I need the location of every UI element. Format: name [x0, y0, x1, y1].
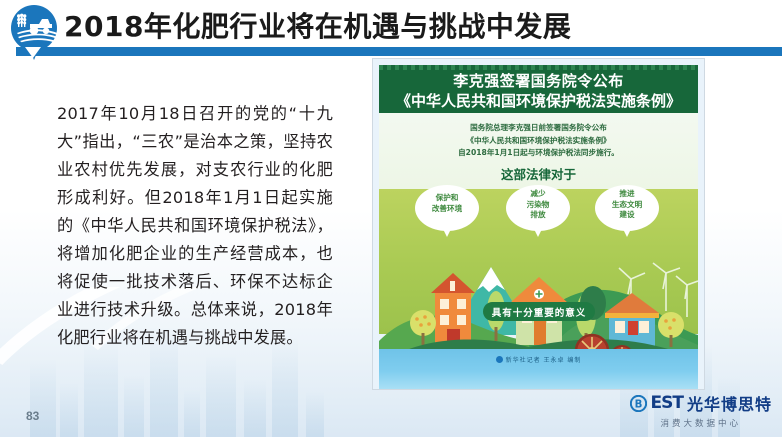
credit-text: 新华社记者 王永卓 编制: [506, 357, 582, 364]
credit-dot-icon: [496, 356, 503, 363]
farm-tractor-pin-icon: [11, 5, 57, 51]
bubble-line: 生态文明: [595, 200, 659, 211]
page-title: 2018年化肥行业将在机遇与挑战中发展: [64, 5, 571, 45]
infographic-body-line: 国务院总理李克强日前签署国务院令公布: [379, 122, 698, 135]
slide-header: 2018年化肥行业将在机遇与挑战中发展: [0, 0, 782, 58]
brand-subtitle: 消费大数据中心: [630, 417, 772, 429]
bubble-line: 保护和: [415, 193, 479, 204]
svg-text:B: B: [634, 399, 642, 410]
bubble-line: 减少: [506, 189, 570, 200]
infographic-headline-2: 《中华人民共和国环境保护税法实施条例》: [379, 90, 698, 111]
bubble-line: 排放: [506, 210, 570, 221]
infographic-body-emphasis: 这部法律对于: [379, 164, 698, 183]
body-paragraph: 2017年10月18日召开的党的“十九大”指出，“三农”是治本之策，坚持农业农村…: [57, 100, 333, 352]
infographic-card: 李克强签署国务院令公布 《中华人民共和国环境保护税法实施条例》 国务院总理李克强…: [372, 58, 705, 390]
header-accent-bar: [16, 47, 782, 56]
brand-mark-text: EST: [651, 393, 683, 413]
benefit-bubble: 保护和 改善环境: [415, 185, 479, 235]
page-number: 83: [26, 409, 39, 423]
significance-pill-label: 具有十分重要的意义: [492, 305, 587, 319]
house-icon: [431, 273, 475, 343]
infographic-body-line: 自2018年1月1日起与环境保护税法同步施行。: [379, 147, 698, 160]
benefit-bubble: 减少 污染物 排放: [506, 185, 570, 235]
benefit-bubble: 推进 生态文明 建设: [595, 185, 659, 235]
bubble-line: 推进: [595, 189, 659, 200]
company-logo: B EST 光华博思特 消费大数据中心: [630, 391, 772, 429]
illustration-credit: 新华社记者 王永卓 编制: [379, 355, 698, 364]
significance-pill: 具有十分重要的意义: [483, 302, 595, 321]
brand-chinese-name: 光华博思特: [687, 391, 772, 415]
bubble-line: 建设: [595, 210, 659, 221]
infographic-headline-1: 李克强签署国务院令公布: [379, 70, 698, 91]
slide-canvas: 2018年化肥行业将在机遇与挑战中发展 2017年10月18日召开的党的“十九大…: [0, 0, 782, 437]
infographic-body-line: 《中华人民共和国环境保护税法实施条例》: [379, 135, 698, 148]
infographic-body-text: 国务院总理李克强日前签署国务院令公布 《中华人民共和国环境保护税法实施条例》 自…: [379, 113, 698, 189]
benefit-bubbles: 保护和 改善环境 减少 污染物 排放 推进 生态文明 建设: [379, 185, 698, 243]
bubble-line: 污染物: [506, 200, 570, 211]
best-b-icon: B: [630, 395, 647, 412]
bubble-line: 改善环境: [415, 204, 479, 215]
